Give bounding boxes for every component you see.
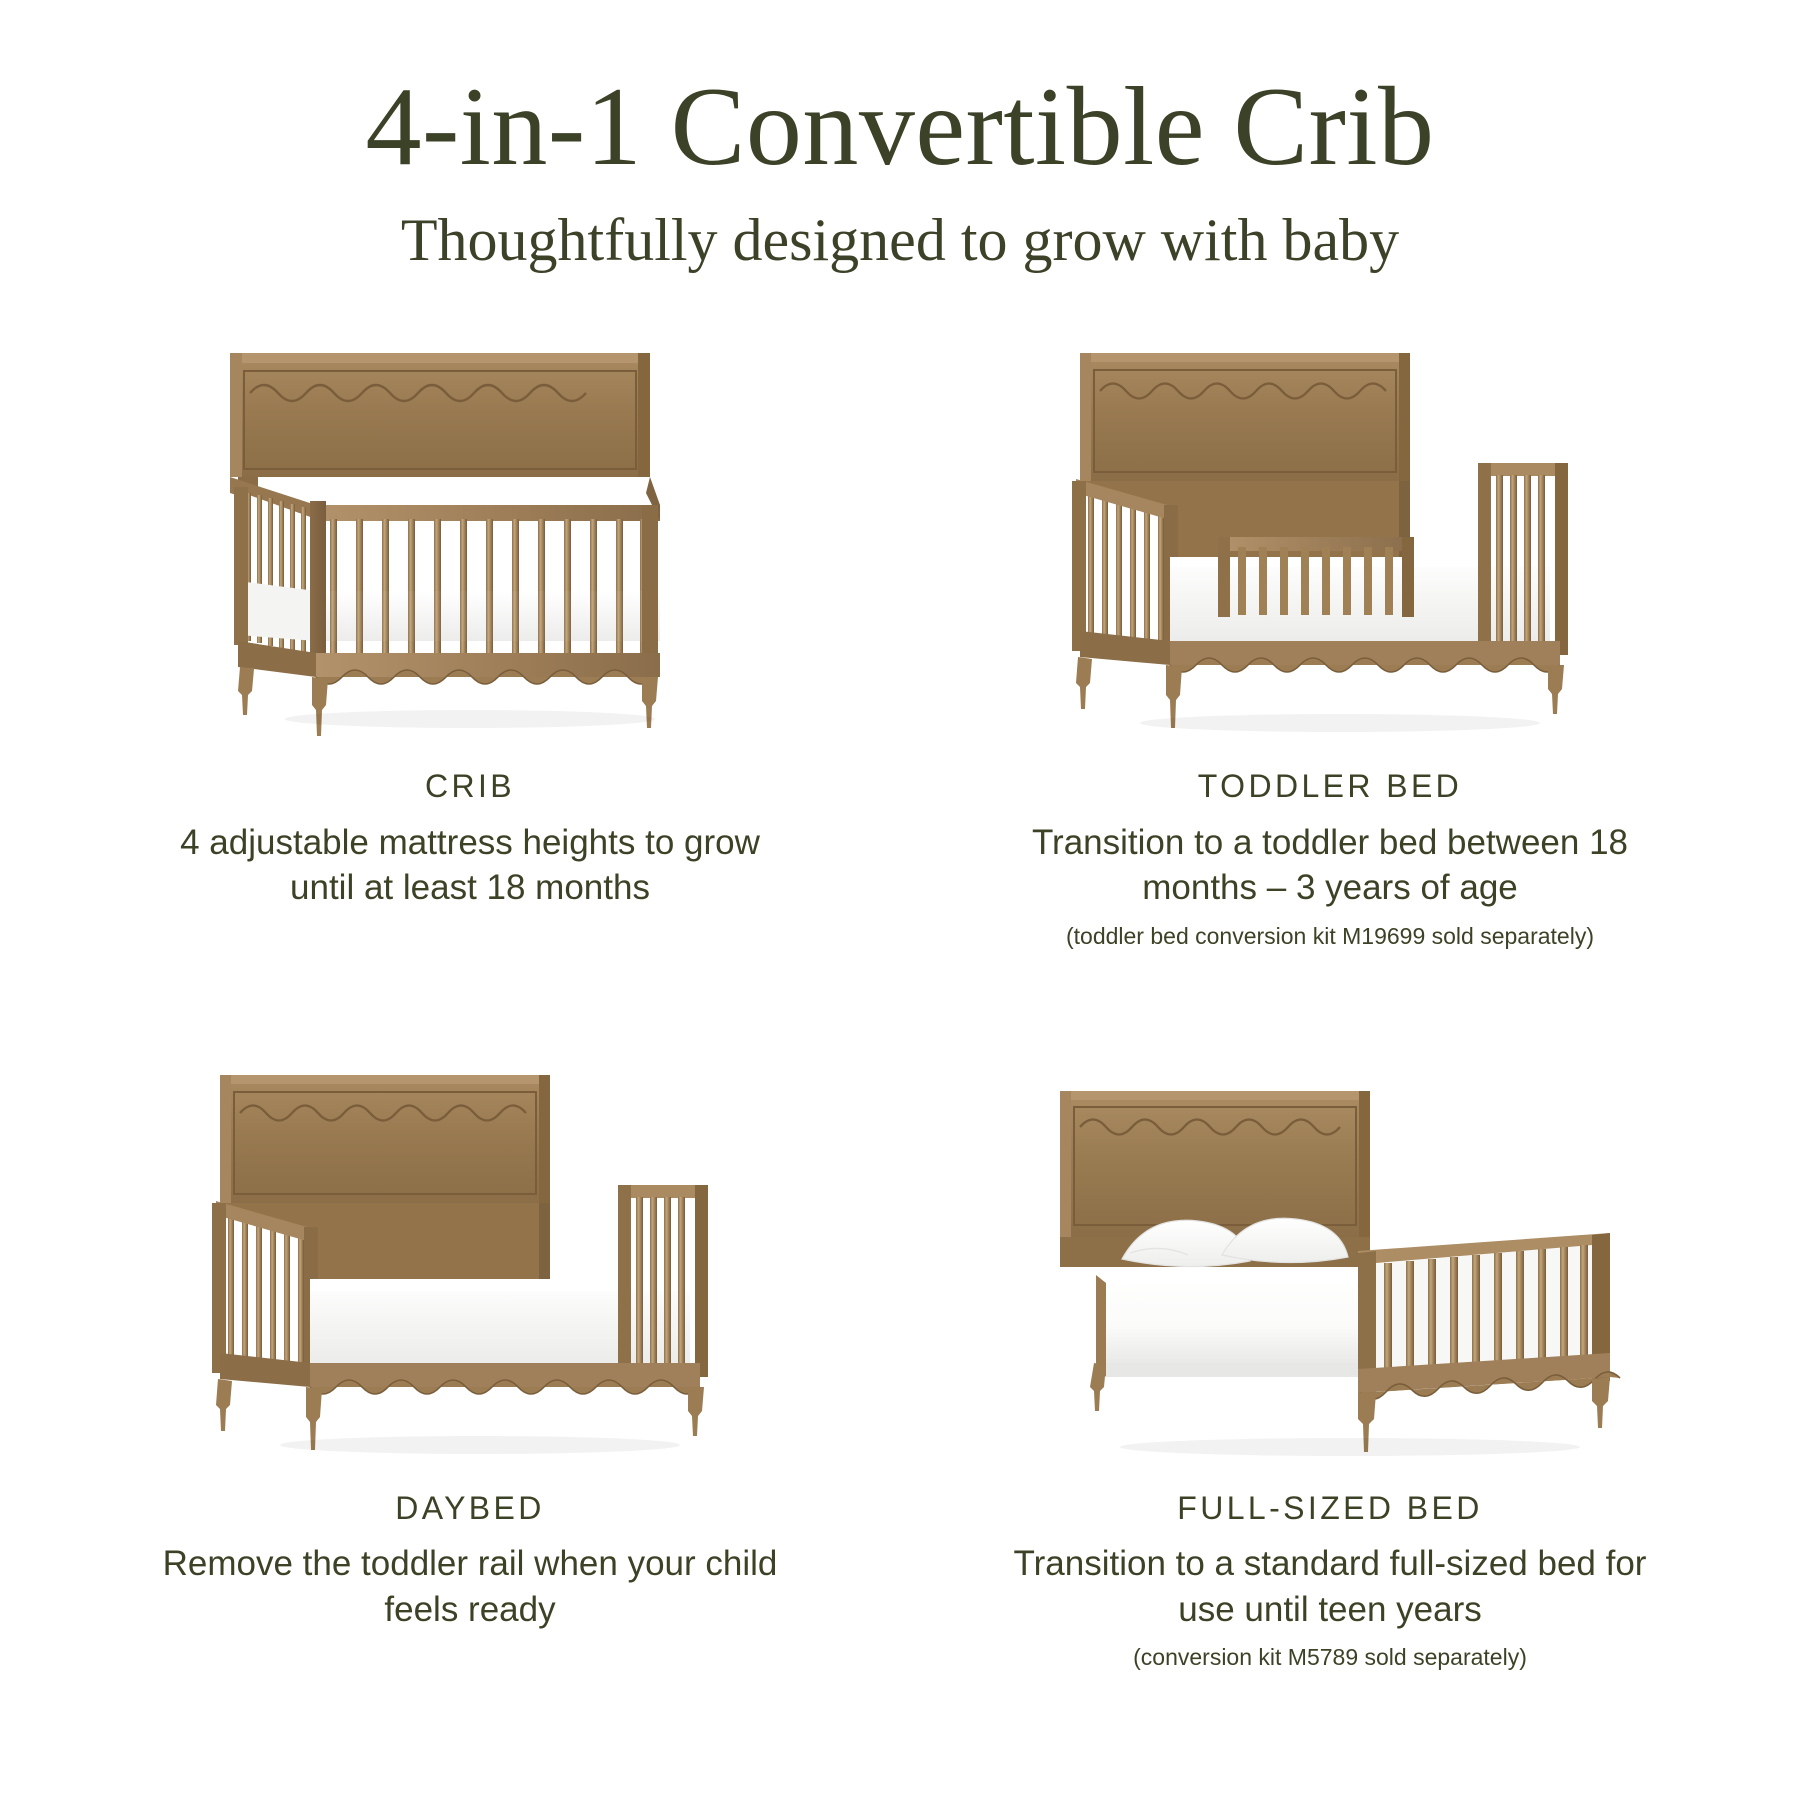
footboard [1358, 1233, 1620, 1399]
daybed-mattress [310, 1279, 690, 1363]
config-title: CRIB [60, 767, 880, 805]
configuration-grid: CRIB 4 adjustable mattress heights to gr… [60, 341, 1740, 1770]
caption-daybed: DAYBED Remove the toddler rail when your… [60, 1489, 880, 1632]
config-description: Transition to a standard full-sized bed … [1010, 1541, 1650, 1632]
panel-daybed: DAYBED Remove the toddler rail when your… [60, 1063, 880, 1770]
headboard [1080, 353, 1410, 481]
crib-illustration [60, 341, 880, 741]
toddler-bed-svg [1050, 341, 1610, 741]
config-fine-print: (toddler bed conversion kit M19699 sold … [920, 921, 1740, 952]
page-title: 4-in-1 Convertible Crib [60, 70, 1740, 184]
full-bed-mattress [1094, 1269, 1374, 1377]
config-description: Transition to a toddler bed between 18 m… [1010, 820, 1650, 911]
toddler-bed-illustration [920, 341, 1740, 741]
crib-svg [190, 341, 750, 741]
page-subtitle: Thoughtfully designed to grow with baby [60, 206, 1740, 275]
caption-toddler-bed: TODDLER BED Transition to a toddler bed … [920, 767, 1740, 951]
config-title: DAYBED [60, 1489, 880, 1527]
config-title: TODDLER BED [920, 767, 1740, 805]
full-sized-bed-illustration [920, 1063, 1740, 1463]
config-description: 4 adjustable mattress heights to grow un… [150, 820, 790, 911]
caption-full-sized-bed: FULL-SIZED BED Transition to a standard … [920, 1489, 1740, 1673]
config-description: Remove the toddler rail when your child … [150, 1541, 790, 1632]
panel-crib: CRIB 4 adjustable mattress heights to gr… [60, 341, 880, 1048]
headboard [230, 353, 650, 477]
caption-crib: CRIB 4 adjustable mattress heights to gr… [60, 767, 880, 910]
config-title: FULL-SIZED BED [920, 1489, 1740, 1527]
panel-full-sized-bed: FULL-SIZED BED Transition to a standard … [920, 1063, 1740, 1770]
headboard [1060, 1091, 1370, 1237]
toddler-right-end [1478, 463, 1568, 655]
config-fine-print: (conversion kit M5789 sold separately) [920, 1642, 1740, 1673]
panel-toddler-bed: TODDLER BED Transition to a toddler bed … [920, 341, 1740, 1048]
daybed-svg [190, 1063, 750, 1463]
headboard [220, 1075, 550, 1203]
full-sized-bed-svg [1030, 1063, 1630, 1463]
header: 4-in-1 Convertible Crib Thoughtfully des… [60, 70, 1740, 275]
daybed-illustration [60, 1063, 880, 1463]
infographic-page: 4-in-1 Convertible Crib Thoughtfully des… [0, 0, 1800, 1800]
